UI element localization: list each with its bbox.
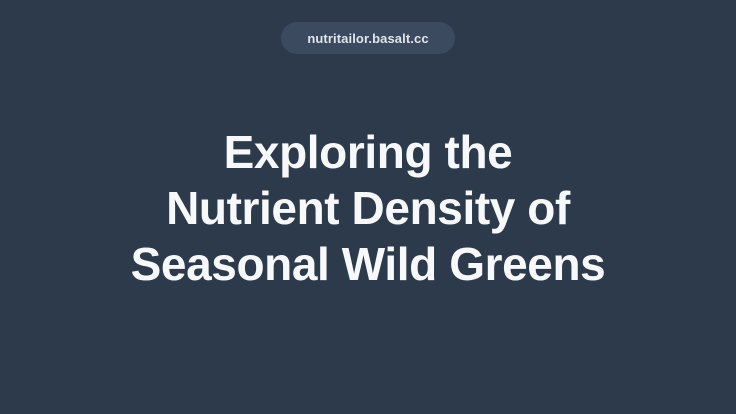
hero-section: Exploring the Nutrient Density of Season… (0, 124, 736, 292)
page-title-line-2: Nutrient Density of (166, 180, 570, 236)
page-title-line-3: Seasonal Wild Greens (131, 236, 606, 292)
page-title-line-1: Exploring the (224, 124, 513, 180)
page-root: nutritailor.basalt.cc Exploring the Nutr… (0, 0, 736, 414)
url-pill[interactable]: nutritailor.basalt.cc (281, 22, 455, 54)
url-pill-label: nutritailor.basalt.cc (307, 32, 428, 45)
